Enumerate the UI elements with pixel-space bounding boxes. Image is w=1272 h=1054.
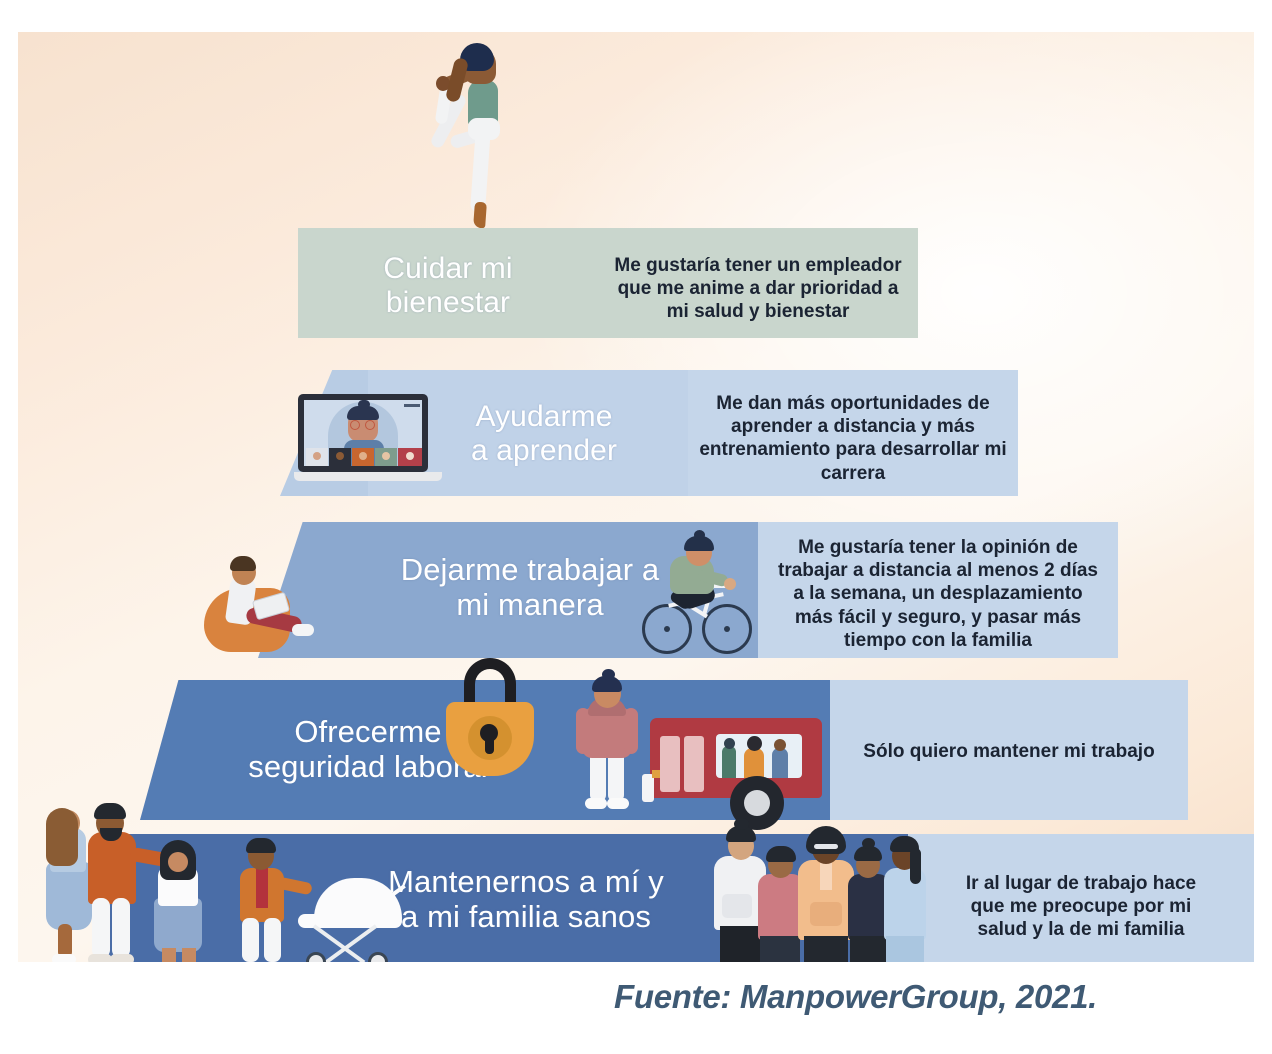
tier-4-ofrecerme-seguridad-laboral[interactable]: Ofrecerme seguridad laboral Sólo quiero …: [140, 680, 1188, 820]
group-of-five-illustration: [714, 818, 926, 962]
tier-3-description: Me gustaría tener la opinión de trabajar…: [764, 536, 1112, 652]
baby-stroller-illustration: [292, 878, 408, 962]
laptop-video-call-illustration: [294, 394, 442, 500]
tier-2-title: Ayudarme a aprender: [408, 400, 680, 468]
person-beanbag-laptop-illustration: [204, 554, 322, 662]
tier-2-ayudarme-a-aprender[interactable]: Ayudarme a aprender Me dan más oportunid…: [280, 370, 1018, 496]
source-caption: Fuente: ManpowerGroup, 2021.: [614, 978, 1234, 1016]
infographic-canvas: Cuidar mi bienestar Me gustaría tener un…: [18, 32, 1254, 962]
tier-5-mantenernos-sanos[interactable]: Mantenernos a mí y a mi familia sanos Ir…: [36, 834, 1254, 962]
woman-hijab-illustration: [142, 840, 214, 962]
yoga-dancer-pose-figure-illustration: [416, 34, 526, 232]
tier-4-left-wedge: [140, 680, 202, 820]
man-with-stroller-illustration: [222, 838, 302, 962]
infographic-root: Cuidar mi bienestar Me gustaría tener un…: [0, 0, 1272, 1054]
padlock-icon: [442, 658, 538, 782]
tier-4-description: Sólo quiero mantener mi trabajo: [834, 740, 1184, 763]
tier-1-cuidar-mi-bienestar[interactable]: Cuidar mi bienestar Me gustaría tener un…: [298, 228, 918, 338]
standing-woman-illustration: [572, 674, 642, 824]
tier-5-description: Ir al lugar de trabajo hace que me preoc…: [912, 872, 1250, 942]
tier-3-dejarme-trabajar-a-mi-manera[interactable]: Dejarme trabajar a mi manera Me gustaría…: [258, 522, 1118, 658]
cyclist-illustration: [640, 536, 758, 658]
tier-1-title: Cuidar mi bienestar: [322, 252, 574, 320]
tier-1-description: Me gustaría tener un empleador que me an…: [602, 254, 914, 324]
tier-2-description: Me dan más oportunidades de aprender a d…: [692, 392, 1014, 485]
bus-illustration: [638, 714, 834, 824]
